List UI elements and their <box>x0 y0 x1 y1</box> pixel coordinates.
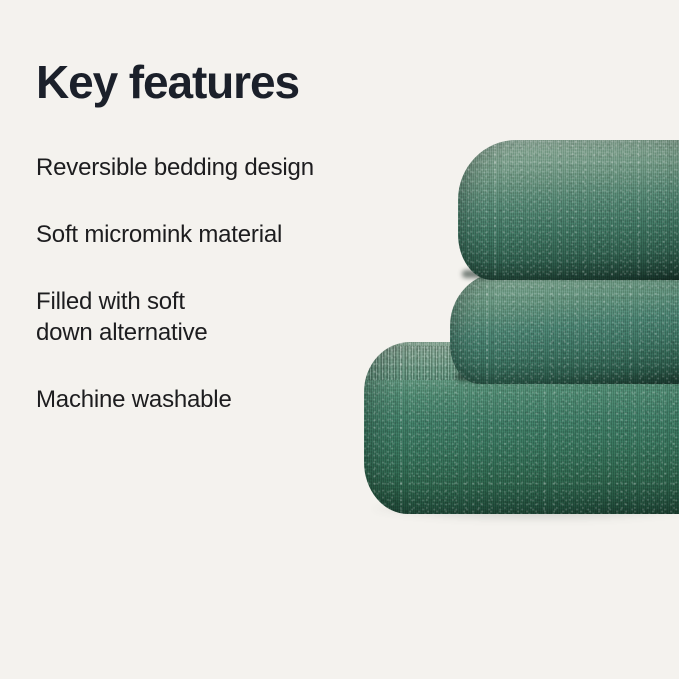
blanket-top-speckle-texture <box>458 140 679 280</box>
key-features-panel: Key features Reversible bedding design S… <box>0 0 679 679</box>
product-image-blanket-stack <box>330 120 679 540</box>
blanket-middle <box>450 272 679 384</box>
blanket-middle-speckle-texture <box>450 272 679 384</box>
page-title: Key features <box>36 53 299 111</box>
blanket-top <box>458 140 679 280</box>
